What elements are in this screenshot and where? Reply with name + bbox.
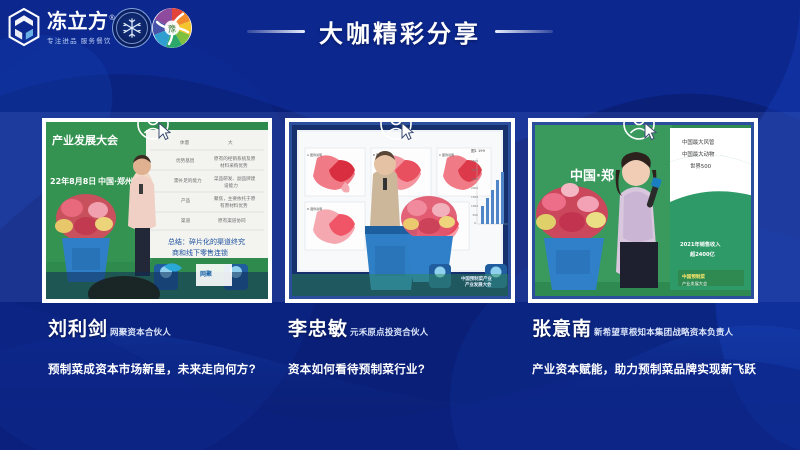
speaker-photo: A 图例说明 B 图例说明 C 图例说明: [289, 122, 511, 299]
speaker-name: 张意南: [532, 314, 592, 341]
svg-text:2500: 2500: [471, 177, 478, 181]
svg-text:设能力: 设能力: [224, 182, 238, 189]
svg-text:需补足的能力: 需补足的能力: [174, 177, 202, 184]
speaker-photo: 中国最大风管 中国最大动物 世界500 2021年销售收入 超2400亿 中国预…: [532, 122, 754, 299]
speaker-topic: 资本如何看待预制菜行业?: [288, 361, 558, 377]
svg-text:中国预制菜产业: 中国预制菜产业: [461, 275, 492, 282]
svg-text:2000: 2000: [471, 186, 478, 190]
speaker-role: 网聚资本合伙人: [110, 326, 171, 338]
svg-text:0: 0: [474, 221, 476, 225]
photo-frame: 中国最大风管 中国最大动物 世界500 2021年销售收入 超2400亿 中国预…: [528, 118, 758, 303]
speaker-card[interactable]: 体量大 优势基因原有的经销系统及原材料采购优势 需补足的能力菜品研发、副品牌建设…: [42, 118, 272, 303]
svg-text:图1 199: 图1 199: [471, 149, 486, 153]
slide-title-group: 大咖精彩分享: [0, 0, 800, 62]
page-title: 大咖精彩分享: [319, 14, 481, 49]
svg-text:3500: 3500: [471, 159, 478, 163]
svg-text:商和线下零售连锁: 商和线下零售连锁: [172, 248, 228, 257]
photo-frame: 体量大 优势基因原有的经销系统及原材料采购优势 需补足的能力菜品研发、副品牌建设…: [42, 118, 272, 303]
svg-text:超2400亿: 超2400亿: [689, 250, 715, 258]
slide-canvas: 冻立方® 专注进品 服务餐饮: [0, 0, 800, 450]
svg-text:总结：碎片化的渠道终究: 总结：碎片化的渠道终究: [168, 237, 245, 246]
speaker-caption: 李忠敏 元禾原点投资合伙人 资本如何看待预制菜行业?: [288, 314, 558, 377]
photo-frame: A 图例说明 B 图例说明 C 图例说明: [285, 118, 515, 303]
svg-text:体量: 体量: [180, 139, 190, 146]
svg-text:原有渠道协同: 原有渠道协同: [218, 217, 246, 224]
speaker-topic: 预制菜成资本市场新星，未来走向何方?: [48, 361, 318, 377]
svg-text:2021年销售收入: 2021年销售收入: [680, 240, 721, 248]
speaker-card[interactable]: A 图例说明 B 图例说明 C 图例说明: [285, 118, 515, 303]
svg-text:产业发展大会: 产业发展大会: [682, 280, 708, 287]
speaker-role: 新希望草根知本集团战略资本负责人: [594, 326, 733, 338]
svg-text:1500: 1500: [471, 195, 478, 199]
svg-text:500: 500: [473, 213, 479, 217]
speaker-role: 元禾原点投资合伙人: [350, 326, 428, 338]
svg-text:A 图例说明: A 图例说明: [307, 152, 322, 157]
speaker-photo: 体量大 优势基因原有的经销系统及原材料采购优势 需补足的能力菜品研发、副品牌建设…: [46, 122, 268, 299]
slide-header: 冻立方® 专注进品 服务餐饮: [0, 0, 800, 62]
svg-text:大: 大: [228, 139, 233, 146]
svg-text:材料采购优势: 材料采购优势: [220, 162, 248, 169]
svg-text:3000: 3000: [471, 168, 478, 172]
speaker-card[interactable]: 中国最大风管 中国最大动物 世界500 2021年销售收入 超2400亿 中国预…: [528, 118, 758, 303]
svg-text:聚焦，主要依托于原: 聚焦，主要依托于原: [214, 195, 256, 202]
svg-text:C 图例说明: C 图例说明: [439, 152, 454, 157]
svg-text:优势基因: 优势基因: [176, 157, 195, 164]
svg-text:1000: 1000: [471, 204, 478, 208]
svg-text:渠道: 渠道: [181, 217, 191, 224]
speaker-name: 李忠敏: [288, 314, 348, 341]
svg-text:产业发展大会: 产业发展大会: [465, 281, 492, 288]
svg-text:22年8月8日: 22年8月8日: [50, 176, 96, 186]
title-rule-left: [247, 30, 305, 33]
svg-text:中国·郑州: 中国·郑州: [98, 176, 133, 186]
svg-text:网聚: 网聚: [200, 270, 213, 278]
svg-text:原有的经销系统及原: 原有的经销系统及原: [214, 155, 256, 162]
svg-text:菜品研发、副品牌建: 菜品研发、副品牌建: [214, 175, 256, 182]
speaker-name: 刘利剑: [48, 314, 108, 341]
speaker-caption: 张意南 新希望草根知本集团战略资本负责人 产业资本赋能，助力预制菜品牌实现新飞跃: [532, 314, 800, 377]
speaker-topic: 产业资本赋能，助力预制菜品牌实现新飞跃: [532, 361, 800, 377]
svg-text:有原材料优势: 有原材料优势: [220, 202, 248, 209]
svg-text:世界500: 世界500: [690, 162, 712, 170]
svg-text:产品: 产品: [181, 197, 191, 204]
title-rule-right: [495, 30, 553, 33]
svg-text:中国最大动物: 中国最大动物: [682, 150, 715, 158]
svg-text:中国·郑: 中国·郑: [570, 168, 614, 184]
svg-text:中国最大风管: 中国最大风管: [682, 138, 715, 146]
svg-text:D 图例说明: D 图例说明: [307, 206, 322, 211]
svg-text:产业发展大会: 产业发展大会: [52, 133, 119, 147]
speaker-caption: 刘利剑 网聚资本合伙人 预制菜成资本市场新星，未来走向何方?: [48, 314, 318, 377]
svg-text:中国预制菜: 中国预制菜: [682, 273, 705, 280]
